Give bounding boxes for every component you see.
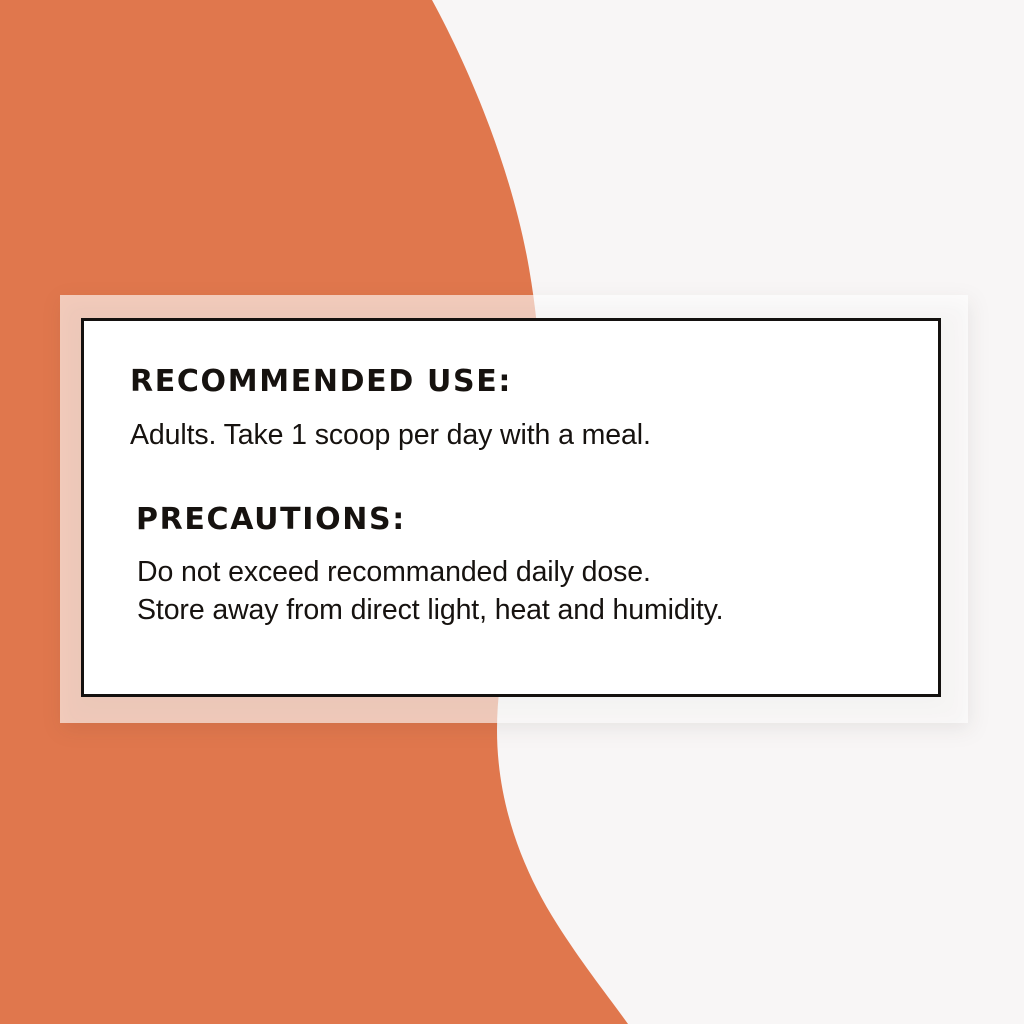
label-artboard: RECOMMENDED USE: Adults. Take 1 scoop pe… — [0, 0, 1024, 1024]
recommended-use-heading: RECOMMENDED USE: — [130, 367, 908, 397]
precautions-line-2: Store away from direct light, heat and h… — [137, 592, 908, 630]
instruction-card: RECOMMENDED USE: Adults. Take 1 scoop pe… — [60, 295, 968, 723]
precautions-line-1: Do not exceed recommanded daily dose. — [137, 554, 908, 592]
section-recommended-use: RECOMMENDED USE: Adults. Take 1 scoop pe… — [130, 367, 908, 455]
section-precautions: PRECAUTIONS: Do not exceed recommanded d… — [130, 505, 908, 630]
recommended-use-line-1: Adults. Take 1 scoop per day with a meal… — [130, 417, 908, 455]
precautions-heading: PRECAUTIONS: — [136, 505, 908, 535]
precautions-body: Do not exceed recommanded daily dose. St… — [136, 554, 908, 630]
card-content: RECOMMENDED USE: Adults. Take 1 scoop pe… — [84, 321, 938, 694]
card-inner-panel: RECOMMENDED USE: Adults. Take 1 scoop pe… — [81, 318, 941, 697]
